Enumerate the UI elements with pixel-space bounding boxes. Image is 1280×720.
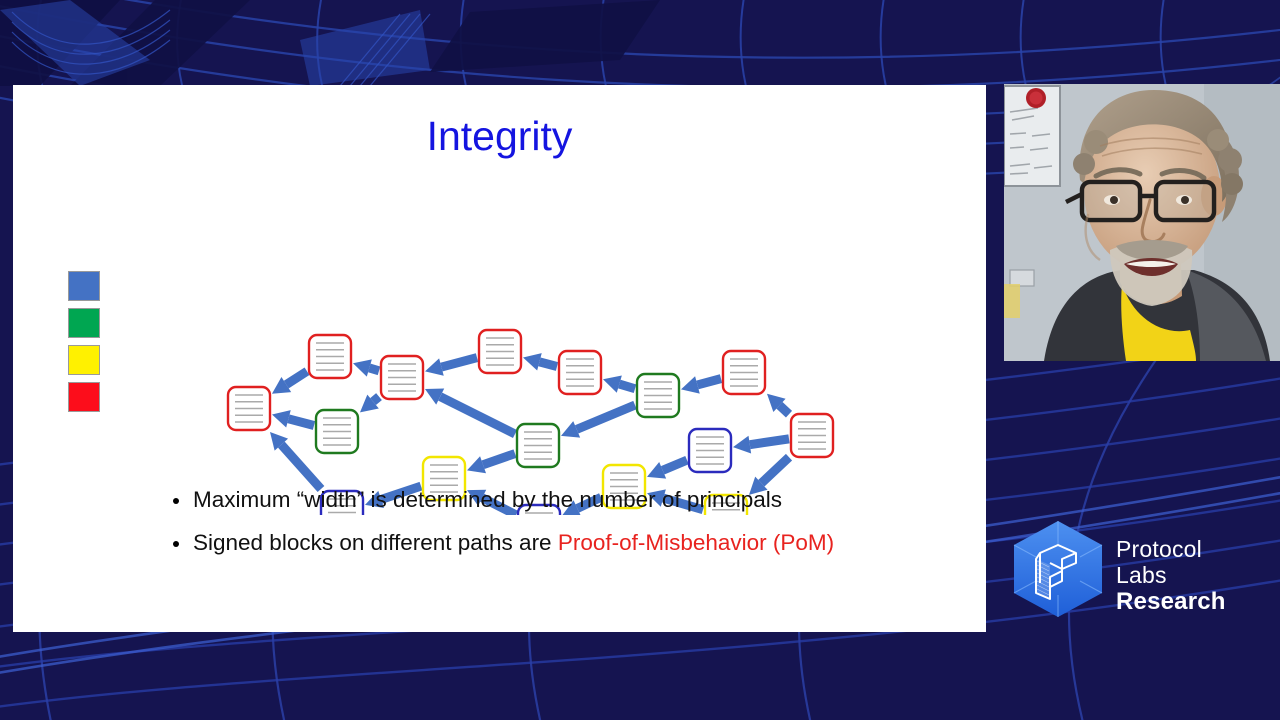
dag-edge-shaft: [369, 368, 379, 371]
dag-node-red: [723, 351, 765, 394]
dag-edge-shaft: [441, 358, 477, 367]
logo-line-2: Research: [1116, 589, 1250, 616]
dag-node-green: [517, 424, 559, 467]
dag-edge-arrowhead: [425, 358, 444, 375]
dag-edge-arrowhead: [681, 376, 700, 393]
protocol-labs-cube-icon: [1010, 519, 1106, 619]
dag-node-green: [316, 410, 358, 453]
dag-node-green: [637, 374, 679, 417]
dag-node-red: [309, 335, 351, 378]
logo-text-block: Protocol Labs Research: [1116, 537, 1250, 615]
logo-line-1: Protocol Labs: [1116, 537, 1250, 589]
presentation-screen: Integrity Maximum “width” is determined …: [0, 0, 1280, 720]
dag-edge-shaft: [663, 460, 687, 470]
dag-edge-shaft: [286, 371, 307, 384]
dag-edge-shaft: [440, 397, 515, 434]
protocol-labs-research-logo: Protocol Labs Research: [1010, 519, 1250, 619]
dag-node-blue: [689, 429, 731, 472]
block-dag-diagram: [13, 85, 986, 515]
dag-edge-arrowhead: [353, 359, 372, 376]
dag-node-red: [381, 356, 423, 399]
dag-edge-shaft: [539, 362, 557, 367]
list-item: Maximum “width” is determined by the num…: [173, 486, 973, 515]
bullet-text-1: Maximum “width” is determined by the num…: [193, 486, 782, 515]
speaker-video-feed[interactable]: [1004, 84, 1280, 361]
dag-edge-shaft: [288, 419, 314, 426]
dag-edge-shaft: [483, 454, 515, 465]
slide-canvas: Integrity Maximum “width” is determined …: [13, 85, 986, 632]
bullet-1-prefix: Maximum “width” is determined by the num…: [193, 487, 782, 512]
dag-edge-shaft: [281, 445, 321, 489]
list-item: Signed blocks on different paths are Pro…: [173, 529, 973, 558]
bullet-list: Maximum “width” is determined by the num…: [173, 486, 973, 572]
dag-edge-shaft: [577, 405, 635, 429]
dag-edge-shaft: [619, 384, 635, 389]
dag-edge-shaft: [779, 405, 789, 414]
dag-edge-arrowhead: [272, 410, 291, 427]
block-dag-svg: [13, 85, 986, 515]
dag-edge-shaft: [750, 439, 789, 445]
dag-node-red: [479, 330, 521, 373]
dag-node-red: [791, 414, 833, 457]
bullet-2-highlight: Proof-of-Misbehavior (PoM): [558, 530, 834, 555]
dag-edge-arrowhead: [733, 436, 751, 454]
dag-edge-arrowhead: [603, 375, 622, 392]
dag-edge-shaft: [761, 457, 789, 483]
bullet-dot-icon: [173, 498, 179, 504]
dag-node-red: [228, 387, 270, 430]
bullet-2-prefix: Signed blocks on different paths are: [193, 530, 558, 555]
bullet-dot-icon: [173, 541, 179, 547]
dag-node-red: [559, 351, 601, 394]
dag-edge-shaft: [697, 379, 721, 385]
webcam-image: [1004, 84, 1280, 361]
bullet-text-2: Signed blocks on different paths are Pro…: [193, 529, 834, 558]
dag-edge-arrowhead: [523, 353, 542, 370]
dag-edge-shaft: [373, 397, 379, 402]
